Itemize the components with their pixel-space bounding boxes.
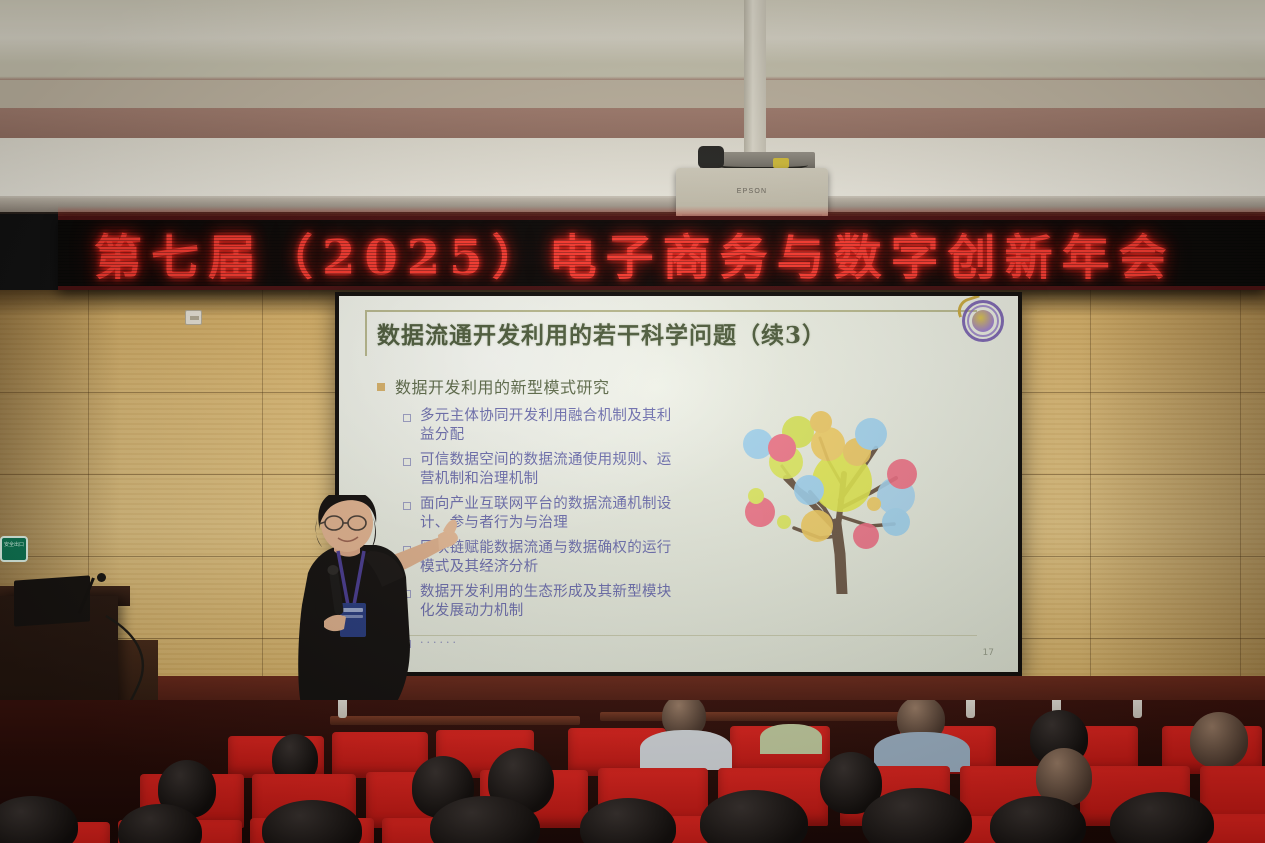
slide-title-bar — [365, 310, 367, 356]
tree-node — [748, 488, 764, 504]
bullet-hollow-square-icon — [403, 458, 411, 466]
slide-title-area: 数据流通开发利用的若干科学问题（续3） — [365, 310, 993, 356]
tree-node — [882, 508, 910, 536]
tree-node — [887, 459, 917, 489]
audience-head — [0, 796, 78, 843]
ceiling-stripe-brown — [0, 108, 1265, 138]
slide-page-number: 17 — [983, 648, 994, 658]
gooseneck-microphone-head — [97, 573, 106, 582]
tree-node — [794, 475, 824, 505]
bullet-level2-text: 可信数据空间的数据流通使用规则、运营机制和治理机制 — [420, 451, 680, 489]
slide-title-rule — [365, 310, 977, 312]
ceiling-band-upper — [0, 80, 1265, 110]
bullet-square-icon — [377, 383, 385, 391]
desk-row — [600, 712, 900, 721]
wall-outlet[interactable] — [185, 310, 202, 325]
bullet-level1: 数据开发利用的新型模式研究 — [377, 374, 977, 398]
projector-connector — [773, 158, 789, 168]
tree-node — [811, 427, 845, 461]
tree-node — [777, 515, 791, 529]
tree-node — [853, 523, 879, 549]
tree-node — [867, 497, 881, 511]
tree-node — [855, 418, 887, 450]
conference-logo-icon — [962, 300, 1004, 342]
water-bottle — [338, 700, 347, 718]
bullet-level1-text: 数据开发利用的新型模式研究 — [395, 374, 610, 398]
tree-node — [768, 434, 796, 462]
panel-seam — [262, 290, 263, 720]
bullet-level2-text: 多元主体协同开发利用融合机制及其利益分配 — [420, 407, 680, 445]
exit-sign: 安全出口 — [0, 536, 28, 562]
decorative-knowledge-tree — [724, 404, 974, 594]
audience-shoulders — [760, 724, 822, 754]
wall-right-shading — [1080, 290, 1265, 720]
tree-node — [810, 411, 832, 433]
led-banner: 第七届（2025）电子商务与数字创新年会 — [58, 216, 1265, 290]
slide-title: 数据流通开发利用的若干科学问题（续3） — [377, 316, 826, 350]
projector-mount-pole — [744, 0, 766, 160]
desk-row — [330, 716, 580, 725]
tree-node — [801, 510, 833, 542]
audience-shoulders — [640, 730, 732, 770]
conference-hall-photo: EPSON 安全出口 第七届（2025）电子商务与数字创新年会 数据流通开发利用… — [0, 0, 1265, 843]
audience-head — [862, 788, 972, 843]
projector-brand-label: EPSON — [676, 188, 828, 195]
podium-monitor — [14, 575, 90, 626]
audience-head — [1110, 792, 1214, 843]
ceiling-band-lower — [0, 138, 1265, 198]
audience-head — [1190, 712, 1248, 768]
tree-node — [743, 429, 773, 459]
water-bottle — [1133, 700, 1142, 718]
audience-area — [0, 700, 1265, 843]
speaker — [272, 495, 462, 710]
water-bottle — [966, 700, 975, 718]
bullet-hollow-square-icon — [403, 414, 411, 422]
led-banner-text: 第七届（2025）电子商务与数字创新年会 — [94, 218, 1176, 288]
tree-nodes — [743, 411, 917, 549]
